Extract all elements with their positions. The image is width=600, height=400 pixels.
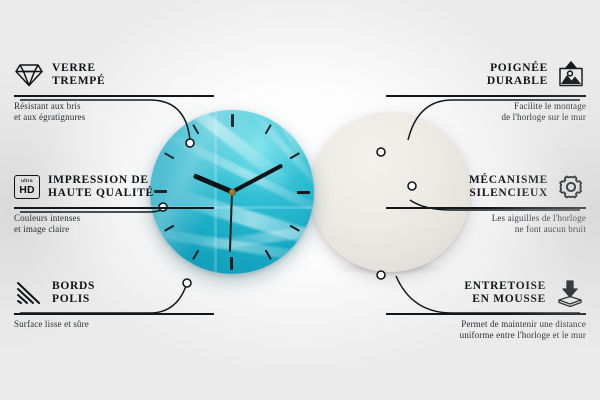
feature-description: Surface lisse et sûre — [14, 319, 214, 331]
feature-title: POIGNÉE DURABLE — [487, 62, 548, 88]
foam-spacer-icon — [554, 279, 586, 307]
clock-tick-12 — [231, 114, 233, 192]
feature-title: IMPRESSION DE HAUTE QUALITÉ — [48, 174, 154, 200]
feature-divider — [386, 313, 586, 315]
diamond-icon — [14, 62, 44, 88]
feature-description: Facilite le montage de l'horloge sur le … — [386, 101, 586, 124]
feature-impression-haute-qualite[interactable]: ultra HD IMPRESSION DE HAUTE QUALITÉ Cou… — [14, 170, 214, 236]
feature-desc-line-1: Permet de maintenir une distance — [461, 319, 586, 329]
feature-title: BORDS POLIS — [52, 280, 95, 306]
feature-divider — [14, 207, 214, 209]
feature-desc-line-2: ne font aucun bruit — [515, 224, 586, 234]
feature-title: ENTRETOISE EN MOUSSE — [464, 280, 546, 306]
feature-description: Résistant aux bris et aux égratignures — [14, 101, 214, 124]
picture-hanger-icon — [556, 61, 586, 89]
feature-desc-line-1: Couleurs intenses — [14, 213, 80, 223]
feature-title: VERRE TREMPÉ — [52, 62, 105, 88]
feature-description: Couleurs intenses et image claire — [14, 213, 214, 236]
ultra-hd-icon: ultra HD — [14, 175, 40, 199]
feature-divider — [386, 207, 586, 209]
clock-tick-3 — [232, 191, 310, 193]
feature-header: MÉCANISME SILENCIEUX — [386, 170, 586, 204]
feature-desc-line-2: et aux égratignures — [14, 112, 85, 122]
feature-entretoise-en-mousse[interactable]: ENTRETOISE EN MOUSSE Permet de maintenir… — [386, 276, 586, 342]
feature-desc-line-1: Résistant aux bris — [14, 101, 81, 111]
feature-header: ultra HD IMPRESSION DE HAUTE QUALITÉ — [14, 170, 214, 204]
feature-desc-line-1: Facilite le montage — [514, 101, 586, 111]
feature-desc-line-1: Surface lisse et sûre — [14, 319, 89, 329]
feature-divider — [386, 95, 586, 97]
feature-divider — [14, 95, 214, 97]
feature-poignee-durable[interactable]: POIGNÉE DURABLE Facilite le montage de l… — [386, 58, 586, 124]
feature-header: POIGNÉE DURABLE — [386, 58, 586, 92]
feature-desc-line-2: uniforme entre l'horloge et le mur — [460, 330, 586, 340]
feature-desc-line-1: Les aiguilles de l'horloge — [492, 213, 586, 223]
clock-hand-cap — [229, 189, 236, 196]
infographic-canvas: VERRE TREMPÉ Résistant aux bris et aux é… — [0, 0, 600, 400]
gear-icon — [556, 173, 586, 201]
feature-title: MÉCANISME SILENCIEUX — [469, 174, 548, 200]
feature-header: VERRE TREMPÉ — [14, 58, 214, 92]
feature-header: BORDS POLIS — [14, 276, 214, 310]
feature-verre-trempe[interactable]: VERRE TREMPÉ Résistant aux bris et aux é… — [14, 58, 214, 124]
feature-description: Les aiguilles de l'horloge ne font aucun… — [386, 213, 586, 236]
feature-mecanisme-silencieux[interactable]: MÉCANISME SILENCIEUX Les aiguilles de l'… — [386, 170, 586, 236]
polished-edge-icon — [14, 280, 44, 306]
feature-desc-line-2: et image claire — [14, 224, 69, 234]
feature-description: Permet de maintenir une distance uniform… — [386, 319, 586, 342]
feature-divider — [14, 313, 214, 315]
ultra-hd-icon-top-text: ultra — [21, 179, 33, 184]
feature-header: ENTRETOISE EN MOUSSE — [386, 276, 586, 310]
feature-desc-line-2: de l'horloge sur le mur — [501, 112, 586, 122]
feature-bords-polis[interactable]: BORDS POLIS Surface lisse et sûre — [14, 276, 214, 330]
ultra-hd-icon-main-text: HD — [19, 185, 35, 196]
